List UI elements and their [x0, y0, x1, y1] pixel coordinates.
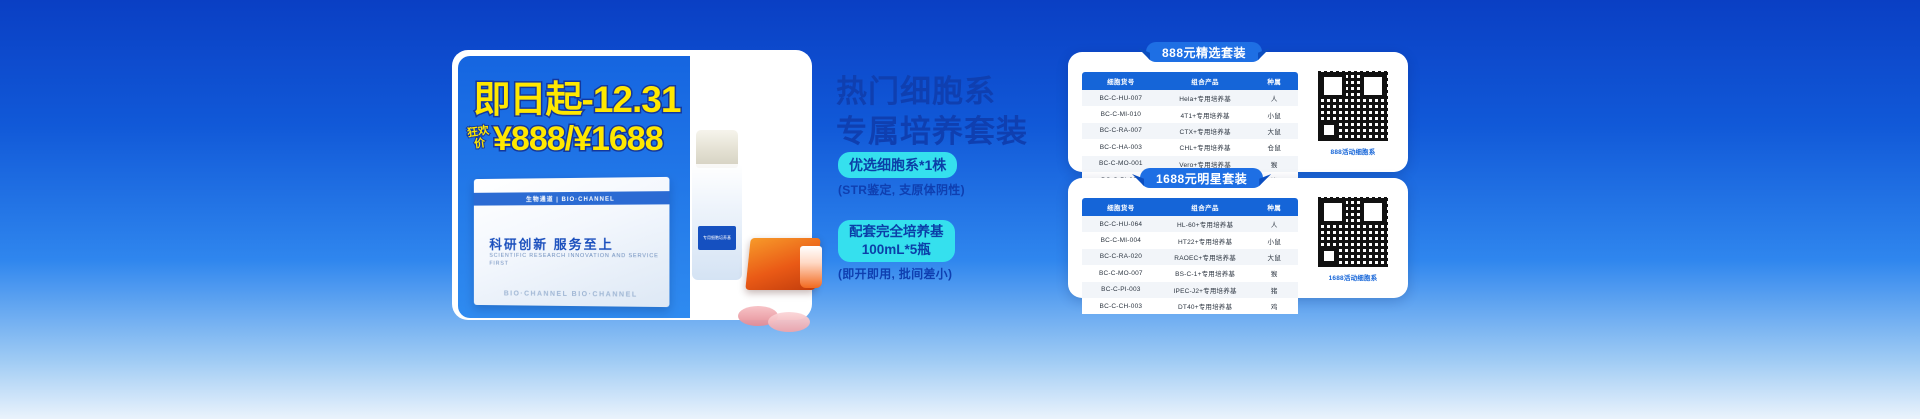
table-row: BC-C-HU-007Hela+专用培养基人 [1082, 90, 1298, 106]
cell-combo-product: IPEC-J2+专用培养基 [1160, 282, 1251, 298]
col-header-cell-no: 细胞货号 [1082, 198, 1160, 216]
table-row: BC-C-MO-007BS-C-1+专用培养基猴 [1082, 265, 1298, 281]
feature-2-pill: 配套完全培养基 100mL*5瓶 [838, 220, 955, 262]
cell-cell-catalog-no: BC-C-MI-004 [1082, 232, 1160, 248]
price-label: 狂欢价 [467, 126, 492, 152]
box-en-slogan: SCIENTIFIC RESEARCH INNOVATION AND SERVI… [489, 252, 669, 269]
cell-cell-catalog-no: BC-C-HU-064 [1082, 216, 1160, 232]
petri-dish-image-2 [768, 312, 810, 332]
table-row: BC-C-PI-003IPEC-J2+专用培养基猪 [1082, 282, 1298, 298]
cell-combo-product: HT22+专用培养基 [1160, 232, 1251, 248]
qr-block-1688: 1688活动细胞系 [1314, 196, 1392, 282]
spec-card-888: 细胞货号 组合产品 种属 BC-C-HU-007Hela+专用培养基人BC-C-… [1068, 52, 1408, 172]
cell-combo-product: Hela+专用培养基 [1160, 90, 1251, 106]
headline-line-2: 专属培养套装 [836, 112, 1036, 152]
qr-block-888: 888活动细胞系 [1314, 70, 1392, 156]
table-row: BC-C-CH-003DT40+专用培养基鸡 [1082, 298, 1298, 314]
headline-line-1: 热门细胞系 [836, 72, 1036, 112]
table-row: BC-C-MI-0104T1+专用培养基小鼠 [1082, 106, 1298, 122]
bottle-label: 专用细胞培养基 [698, 226, 736, 250]
spec-table-1688: 细胞货号 组合产品 种属 BC-C-HU-064HL-60+专用培养基人BC-C… [1082, 198, 1298, 314]
price-badge: 狂欢价 ¥888/¥1688 [468, 118, 683, 160]
date-badge: 即日起-12.31 [472, 74, 682, 118]
feature-item-2: 配套完全培养基 100mL*5瓶 (即开即用, 批间差小) [838, 220, 955, 282]
headline: 热门细胞系 专属培养套装 [836, 72, 1036, 151]
spec-table-1688-body: BC-C-HU-064HL-60+专用培养基人BC-C-MI-004HT22+专… [1082, 216, 1298, 314]
table-row: BC-C-HU-064HL-60+专用培养基人 [1082, 216, 1298, 232]
bottle-body [692, 164, 742, 280]
qr-code-1688-icon[interactable] [1317, 196, 1389, 268]
bottle-cap [696, 130, 738, 168]
cell-species: 小鼠 [1250, 106, 1298, 122]
qr-caption-888: 888活动细胞系 [1314, 146, 1392, 156]
cell-species: 鸡 [1250, 298, 1298, 314]
feature-1-pill: 优选细胞系*1株 [838, 152, 957, 178]
table-row: BC-C-HA-003CHL+专用培养基仓鼠 [1082, 139, 1298, 155]
culture-tube-image [800, 246, 822, 288]
col-header-product: 组合产品 [1160, 198, 1251, 216]
date-range-text: 即日起-12.31 [474, 69, 681, 123]
col-header-species: 种属 [1250, 72, 1298, 90]
qr-code-888-icon[interactable] [1317, 70, 1389, 142]
cell-cell-catalog-no: BC-C-RA-020 [1082, 249, 1160, 265]
col-header-cell-no: 细胞货号 [1082, 72, 1160, 90]
cell-species: 仓鼠 [1250, 139, 1298, 155]
feature-1-sub: (STR鉴定, 支原体阴性) [838, 181, 965, 198]
table-header-row: 细胞货号 组合产品 种属 [1082, 72, 1298, 90]
cell-species: 大鼠 [1250, 123, 1298, 139]
qr-caption-1688: 1688活动细胞系 [1314, 272, 1392, 282]
cell-species: 小鼠 [1250, 232, 1298, 248]
bottle-label-text: 专用细胞培养基 [703, 235, 731, 241]
cell-combo-product: CHL+专用培养基 [1160, 139, 1251, 155]
cell-species: 猴 [1250, 265, 1298, 281]
table-header-row: 细胞货号 组合产品 种属 [1082, 198, 1298, 216]
cell-combo-product: HL-60+专用培养基 [1160, 216, 1251, 232]
table-row: BC-C-RA-020RAOEC+专用培养基大鼠 [1082, 249, 1298, 265]
cell-cell-catalog-no: BC-C-RA-007 [1082, 123, 1160, 139]
cell-cell-catalog-no: BC-C-PI-003 [1082, 282, 1160, 298]
cell-species: 人 [1250, 216, 1298, 232]
table-row: BC-C-RA-007CTX+专用培养基大鼠 [1082, 123, 1298, 139]
ribbon-888-text: 888元精选套装 [1162, 44, 1246, 61]
price-value: ¥888/¥1688 [493, 120, 663, 159]
cell-cell-catalog-no: BC-C-HA-003 [1082, 139, 1160, 155]
cell-combo-product: 4T1+专用培养基 [1160, 106, 1251, 122]
box-cn-slogan: 科研创新 服务至上 [489, 234, 613, 253]
box-brand-text: 生物通道 | BIO·CHANNEL [526, 194, 615, 204]
media-bottle-image: 专用细胞培养基 [690, 130, 744, 280]
box-brand-band: 生物通道 | BIO·CHANNEL [474, 191, 670, 205]
ribbon-1688-text: 1688元明星套装 [1156, 170, 1247, 187]
cell-cell-catalog-no: BC-C-HU-007 [1082, 90, 1160, 106]
feature-2-pill-line-1: 配套完全培养基 [849, 224, 944, 239]
product-box-image: 生物通道 | BIO·CHANNEL 科研创新 服务至上 SCIENTIFIC … [474, 177, 670, 307]
col-header-product: 组合产品 [1160, 72, 1251, 90]
cell-combo-product: BS-C-1+专用培养基 [1160, 265, 1251, 281]
spec-card-1688: 细胞货号 组合产品 种属 BC-C-HU-064HL-60+专用培养基人BC-C… [1068, 178, 1408, 298]
cell-cell-catalog-no: BC-C-MO-007 [1082, 265, 1160, 281]
cell-species: 猪 [1250, 282, 1298, 298]
cell-species: 人 [1250, 90, 1298, 106]
ribbon-1688: 1688元明星套装 [1140, 168, 1263, 188]
ribbon-888: 888元精选套装 [1146, 42, 1262, 62]
cell-combo-product: RAOEC+专用培养基 [1160, 249, 1251, 265]
cell-cell-catalog-no: BC-C-CH-003 [1082, 298, 1160, 314]
feature-2-pill-line-2: 100mL*5瓶 [862, 242, 931, 257]
cell-species: 大鼠 [1250, 249, 1298, 265]
cell-combo-product: DT40+专用培养基 [1160, 298, 1251, 314]
cell-combo-product: CTX+专用培养基 [1160, 123, 1251, 139]
feature-item-1: 优选细胞系*1株 (STR鉴定, 支原体阴性) [838, 152, 965, 198]
col-header-species: 种属 [1250, 198, 1298, 216]
feature-2-sub: (即开即用, 批间差小) [838, 265, 955, 282]
box-footer-brand: BIO·CHANNEL BIO·CHANNEL [474, 290, 670, 299]
cell-cell-catalog-no: BC-C-MI-010 [1082, 106, 1160, 122]
promo-banner: 即日起-12.31 狂欢价 ¥888/¥1688 生物通道 | BIO·CHAN… [0, 0, 1920, 419]
table-row: BC-C-MI-004HT22+专用培养基小鼠 [1082, 232, 1298, 248]
